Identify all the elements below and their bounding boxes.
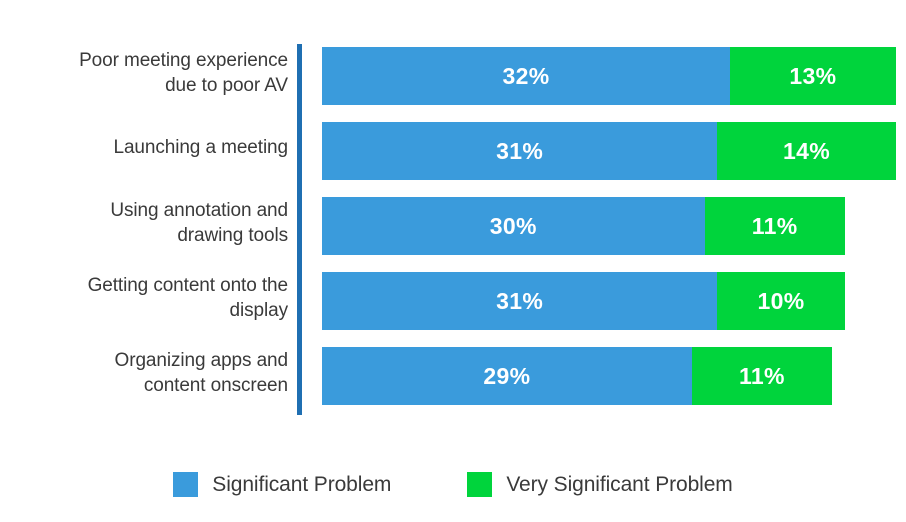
bar-segment-very-significant: 11% [692,347,832,405]
stacked-bar: 32%13% [322,47,896,105]
bar-value-label: 29% [483,365,530,388]
category-label: Organizing apps and content onscreen [10,335,288,410]
bar-segment-very-significant: 14% [717,122,896,180]
bar-row: Launching a meeting31%14% [0,110,906,185]
bar-rows: Poor meeting experience due to poor AV32… [0,35,906,417]
bar-value-label: 14% [783,140,830,163]
bar-row: Getting content onto the display31%10% [0,260,906,335]
stacked-bar: 31%14% [322,122,896,180]
stacked-bar: 31%10% [322,272,845,330]
bar-value-label: 10% [758,290,805,313]
category-label: Getting content onto the display [10,260,288,335]
bar-row: Poor meeting experience due to poor AV32… [0,35,906,110]
legend-label: Very Significant Problem [506,474,732,495]
bar-value-label: 32% [503,65,550,88]
category-label: Poor meeting experience due to poor AV [10,35,288,110]
bar-value-label: 30% [490,215,537,238]
legend-swatch-icon [467,472,492,497]
stacked-bar: 29%11% [322,347,832,405]
stacked-bar: 30%11% [322,197,845,255]
legend-item[interactable]: Very Significant Problem [467,472,732,497]
category-label: Using annotation and drawing tools [10,185,288,260]
bar-value-label: 31% [496,290,543,313]
bar-segment-very-significant: 13% [730,47,896,105]
bar-segment-significant: 32% [322,47,730,105]
bar-value-label: 13% [789,65,836,88]
bar-segment-very-significant: 11% [705,197,845,255]
bar-segment-significant: 30% [322,197,705,255]
bar-row: Organizing apps and content onscreen29%1… [0,335,906,410]
bar-value-label: 11% [752,215,798,238]
bar-segment-significant: 31% [322,272,717,330]
bar-segment-significant: 29% [322,347,692,405]
plot-area: Poor meeting experience due to poor AV32… [0,35,906,417]
bar-segment-very-significant: 10% [717,272,845,330]
legend-label: Significant Problem [212,474,391,495]
bar-value-label: 11% [739,365,785,388]
legend-swatch-icon [173,472,198,497]
bar-row: Using annotation and drawing tools30%11% [0,185,906,260]
bar-segment-significant: 31% [322,122,717,180]
chart-legend: Significant ProblemVery Significant Prob… [0,462,906,506]
category-label: Launching a meeting [10,110,288,185]
stacked-bar-chart: Poor meeting experience due to poor AV32… [0,0,906,522]
bar-value-label: 31% [496,140,543,163]
legend-item[interactable]: Significant Problem [173,472,391,497]
